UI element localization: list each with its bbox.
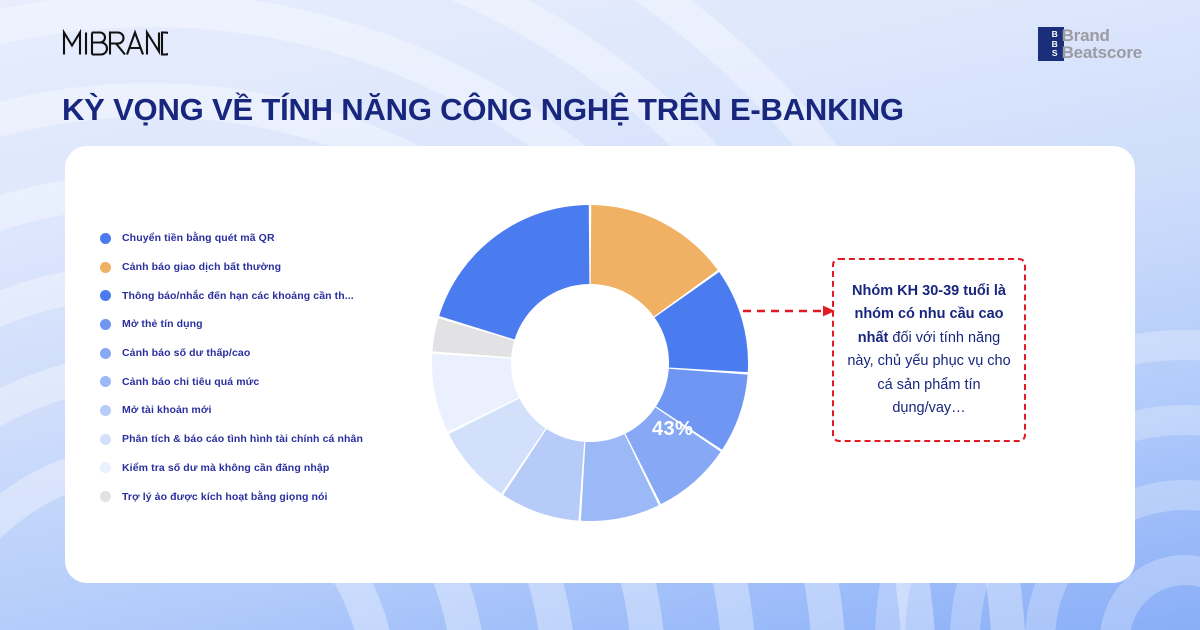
- legend-color-swatch-icon: [100, 491, 111, 502]
- legend-item[interactable]: Thông báo/nhắc đến hạn các khoảng cần th…: [100, 281, 420, 310]
- legend-item[interactable]: Chuyển tiền bằng quét mã QR: [100, 224, 420, 253]
- legend-item[interactable]: Mở thẻ tín dụng: [100, 310, 420, 339]
- brand-beatscore-logo: B B S Brand Beatscore: [1038, 27, 1142, 61]
- legend-color-swatch-icon: [100, 348, 111, 359]
- bbs-letter-1: B: [1052, 30, 1058, 39]
- legend-color-swatch-icon: [100, 290, 111, 301]
- donut-chart: [432, 205, 748, 521]
- legend-item-label: Trợ lý ảo được kích hoạt bằng giọng nói: [122, 491, 328, 503]
- legend-color-swatch-icon: [100, 376, 111, 387]
- donut-slice[interactable]: [439, 205, 589, 339]
- bbs-letter-3: S: [1052, 49, 1057, 58]
- donut-chart-svg: [432, 205, 748, 521]
- legend-item-label: Phân tích & báo cáo tình hình tài chính …: [122, 433, 363, 445]
- callout-box: Nhóm KH 30-39 tuổi là nhóm có nhu cầu ca…: [832, 258, 1026, 442]
- highlight-percentage-label: 43%: [652, 418, 693, 441]
- legend-color-swatch-icon: [100, 462, 111, 473]
- bbs-mark-icon: B B S: [1038, 27, 1064, 61]
- legend-color-swatch-icon: [100, 319, 111, 330]
- legend-item-label: Mở thẻ tín dụng: [122, 318, 203, 330]
- legend-item[interactable]: Cảnh báo chi tiêu quá mức: [100, 367, 420, 396]
- infographic-canvas: B B S Brand Beatscore KỲ VỌNG VỀ TÍNH NĂ…: [0, 0, 1200, 630]
- legend-item-label: Cảnh báo chi tiêu quá mức: [122, 376, 259, 388]
- bbs-word-brand: Brand: [1062, 27, 1142, 44]
- page-title: KỲ VỌNG VỀ TÍNH NĂNG CÔNG NGHỆ TRÊN E-BA…: [62, 92, 904, 128]
- bbs-letter-2: B: [1052, 40, 1058, 49]
- legend-item-label: Cảnh báo giao dịch bất thường: [122, 261, 281, 273]
- callout-connector-arrow: [743, 301, 835, 321]
- legend-item-label: Kiểm tra số dư mà không cần đăng nhập: [122, 462, 329, 474]
- legend-item-label: Thông báo/nhắc đến hạn các khoảng cần th…: [122, 290, 354, 302]
- legend-item[interactable]: Kiểm tra số dư mà không cần đăng nhập: [100, 454, 420, 483]
- legend-color-swatch-icon: [100, 405, 111, 416]
- legend-item-label: Mở tài khoản mới: [122, 404, 211, 416]
- chart-card: Chuyển tiền bằng quét mã QRCảnh báo giao…: [65, 146, 1135, 583]
- legend-item[interactable]: Phân tích & báo cáo tình hình tài chính …: [100, 425, 420, 454]
- mibrand-logo: [62, 28, 168, 58]
- bbs-wordmark: Brand Beatscore: [1062, 27, 1142, 61]
- legend-item[interactable]: Cảnh báo số dư thấp/cao: [100, 339, 420, 368]
- chart-legend: Chuyển tiền bằng quét mã QRCảnh báo giao…: [100, 224, 420, 511]
- legend-item-label: Cảnh báo số dư thấp/cao: [122, 347, 250, 359]
- legend-color-swatch-icon: [100, 262, 111, 273]
- callout-text: Nhóm KH 30-39 tuổi là nhóm có nhu cầu ca…: [846, 280, 1012, 421]
- legend-item-label: Chuyển tiền bằng quét mã QR: [122, 232, 275, 244]
- legend-color-swatch-icon: [100, 434, 111, 445]
- legend-color-swatch-icon: [100, 233, 111, 244]
- bbs-word-beatscore: Beatscore: [1062, 44, 1142, 61]
- legend-item[interactable]: Mở tài khoản mới: [100, 396, 420, 425]
- legend-item[interactable]: Trợ lý ảo được kích hoạt bằng giọng nói: [100, 482, 420, 511]
- legend-item[interactable]: Cảnh báo giao dịch bất thường: [100, 253, 420, 282]
